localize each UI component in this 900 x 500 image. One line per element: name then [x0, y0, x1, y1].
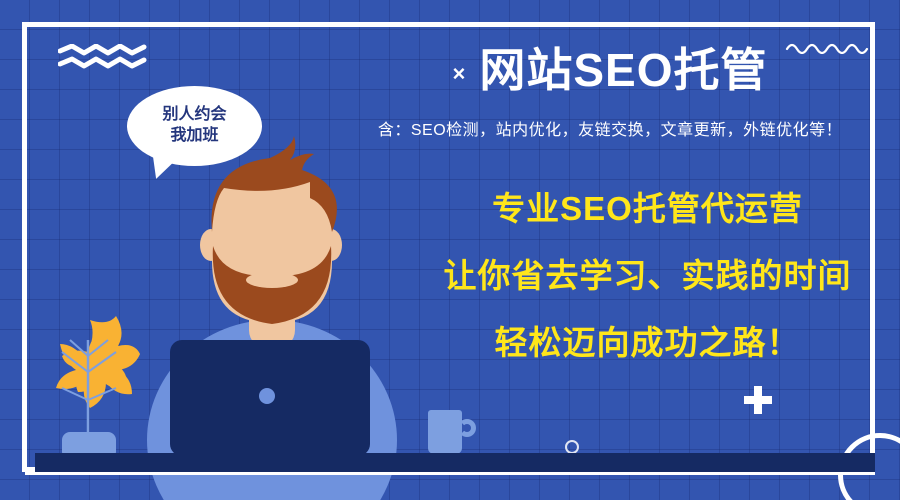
slogan-line-2: 让你省去学习、实践的时间	[420, 259, 875, 292]
coffee-mug	[428, 410, 462, 454]
desk-edge-line	[25, 472, 875, 475]
speech-bubble: 别人约会 我加班	[127, 86, 262, 166]
seo-promo-banner: 别人约会 我加班 × 网站SEO托管 含：SEO检测，站内优化，友链交换，文章更…	[0, 0, 900, 500]
slogan-line-1: 专业SEO托管代运营	[420, 192, 875, 225]
laptop-logo-dot	[259, 388, 275, 404]
slogan-list: 专业SEO托管代运营 让你省去学习、实践的时间 轻松迈向成功之路！	[420, 192, 875, 359]
desk-surface	[35, 453, 875, 473]
laptop	[170, 340, 370, 456]
plus-icon	[744, 386, 772, 414]
subtitle: 含：SEO检测，站内优化，友链交换，文章更新，外链优化等！	[330, 116, 890, 140]
speech-bubble-text: 别人约会 我加班	[127, 86, 262, 166]
speech-bubble-line-1: 别人约会	[162, 105, 226, 126]
page-title: 网站SEO托管	[479, 46, 767, 94]
headline-row: × 网站SEO托管	[340, 46, 880, 94]
slogan-line-3: 轻松迈向成功之路！	[420, 326, 875, 359]
circle-outline-icon	[565, 440, 579, 454]
speech-bubble-line-2: 我加班	[170, 126, 218, 147]
title-bullet-icon: ×	[452, 63, 465, 85]
